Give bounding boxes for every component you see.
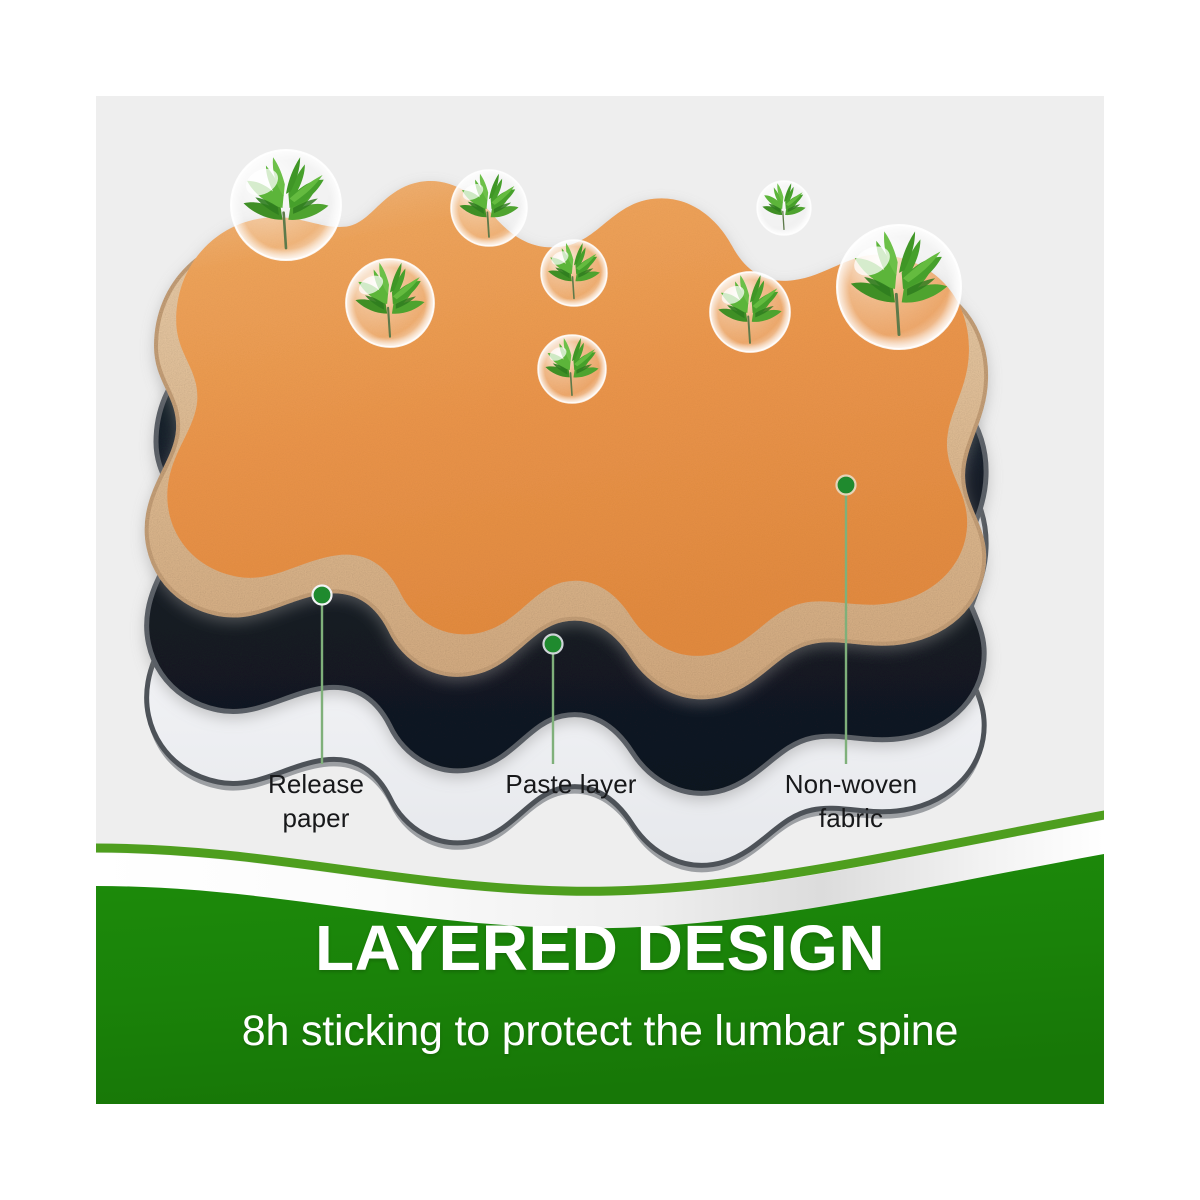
image-frame: Release paper Paste layer Non-woven fabr… [0, 0, 1200, 1200]
illustration-stage: Release paper Paste layer Non-woven fabr… [96, 96, 1104, 1104]
green-wave-banner [96, 96, 1104, 1104]
content-panel: Release paper Paste layer Non-woven fabr… [96, 96, 1104, 1104]
